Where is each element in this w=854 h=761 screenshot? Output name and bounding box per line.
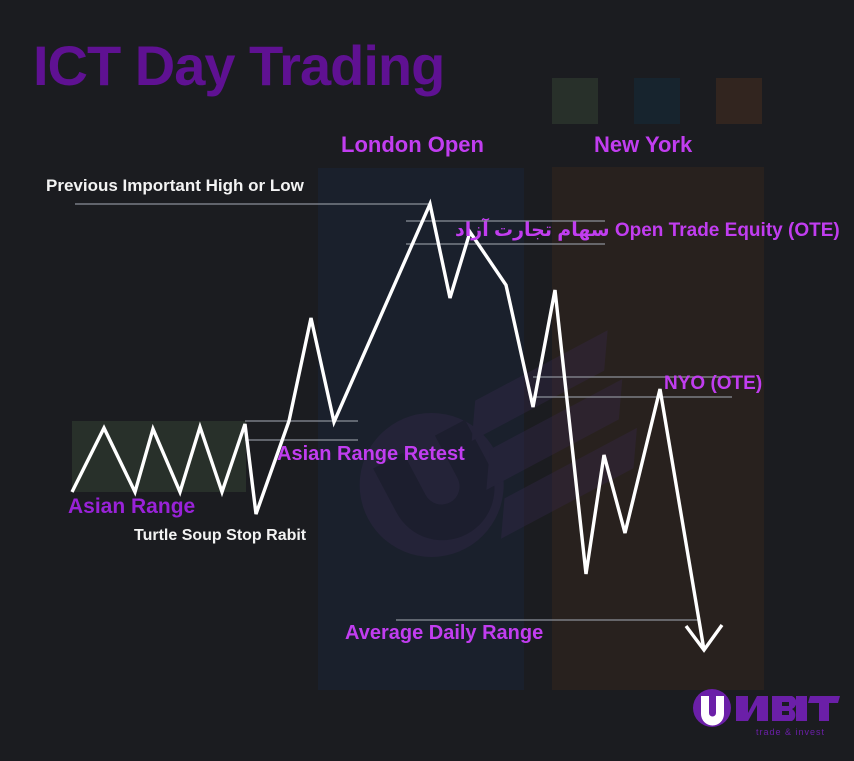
swatch-asian (552, 78, 598, 124)
london-session-panel (318, 168, 524, 690)
label-new-york: New York (594, 134, 692, 156)
logo-tagline: trade & invest (756, 727, 825, 737)
label-asian-range: Asian Range (68, 496, 195, 517)
unbit-logo: trade & invest (692, 688, 842, 740)
newyork-session-panel (552, 167, 764, 690)
swatch-london (634, 78, 680, 124)
label-average-daily-range: Average Daily Range (345, 623, 543, 643)
label-open-trade-equity: Open Trade Equity (OTE) سهام تجارت آزاد (455, 221, 840, 240)
label-asian-range-retest: Asian Range Retest (277, 444, 465, 464)
asian-range-box (72, 421, 246, 492)
label-nyo-ote: NYO (OTE) (664, 374, 762, 393)
label-london-open: London Open (341, 134, 484, 156)
swatch-newyork (716, 78, 762, 124)
page-title: ICT Day Trading (33, 38, 444, 94)
infographic-canvas: ICT Day Trading London Open New York Pre… (0, 0, 854, 761)
label-previous-high-low: Previous Important High or Low (46, 177, 304, 194)
label-turtle-soup: Turtle Soup Stop Rabit (134, 528, 306, 544)
logo-wordmark (736, 696, 840, 721)
